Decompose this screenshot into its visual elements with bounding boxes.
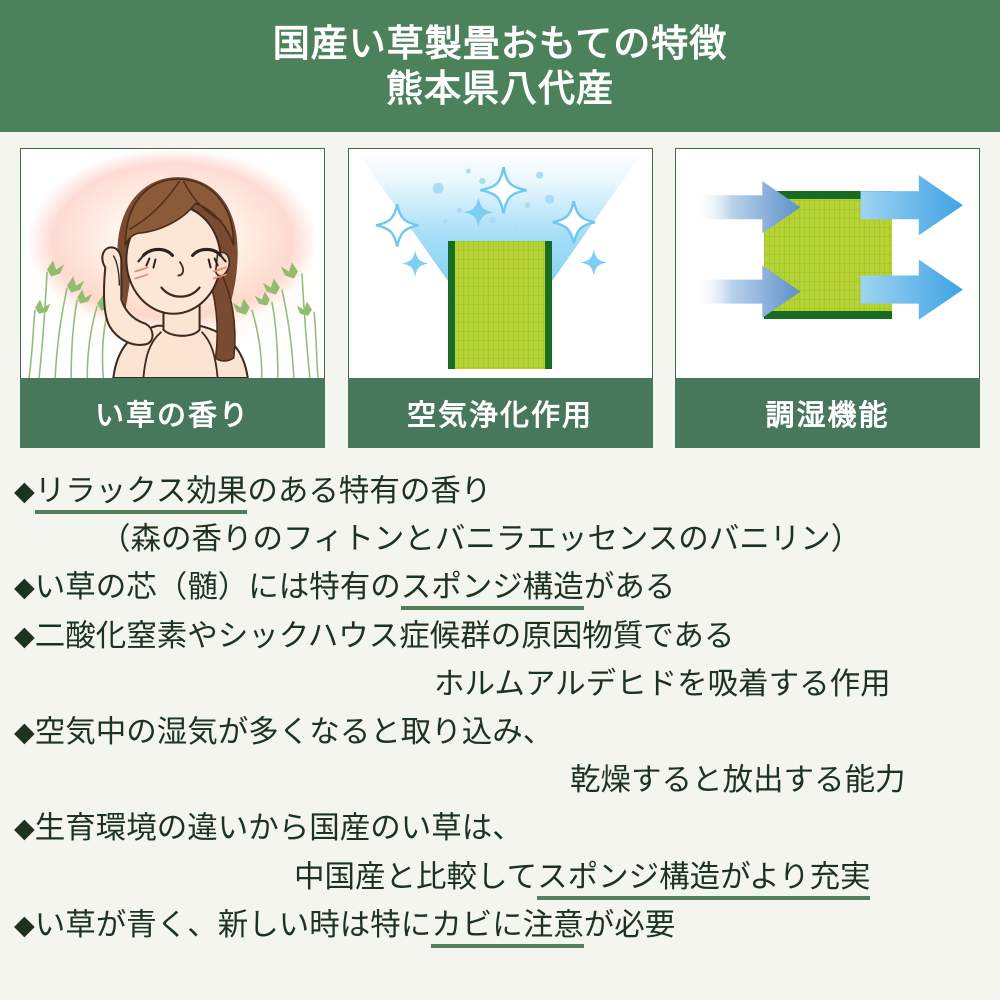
feature-text: のある特有の香り bbox=[247, 474, 491, 509]
feature-line: ◆い草が青く、新しい時は特にカビに注意が必要 bbox=[14, 902, 986, 950]
feature-description-list: ◆リラックス効果のある特有の香り（森の香りのフィトンとバニラエッセンスのバニリン… bbox=[0, 468, 1000, 950]
feature-text: い草の芯（髄）には特有の bbox=[35, 570, 401, 605]
highlighted-keyword: カビに注意 bbox=[431, 908, 584, 948]
feature-text: （森の香りのフィトンとバニラエッセンスのバニリン） bbox=[100, 522, 861, 557]
diamond-bullet-icon: ◆ bbox=[14, 910, 35, 941]
diamond-bullet-icon: ◆ bbox=[14, 813, 35, 844]
feature-line: ◆生育環境の違いから国産のい草は、 bbox=[14, 805, 986, 853]
page-title-line-1: 国産い草製畳おもての特徴 bbox=[273, 21, 728, 66]
feature-line: ◆空気中の湿気が多くなると取り込み、 bbox=[14, 709, 986, 757]
feature-text: 二酸化窒素やシックハウス症候群の原因物質である bbox=[35, 619, 735, 654]
tatami-humidity-control-illustration bbox=[675, 148, 980, 378]
highlighted-keyword: スポンジ構造 bbox=[401, 570, 584, 610]
feature-line: 中国産と比較してスポンジ構造がより充実 bbox=[14, 854, 986, 902]
feature-line: （森の香りのフィトンとバニラエッセンスのバニリン） bbox=[14, 516, 986, 564]
feature-text: い草が青く、新しい時は特に bbox=[35, 908, 432, 943]
page-title-line-2: 熊本県八代産 bbox=[386, 66, 614, 111]
feature-text: 空気中の湿気が多くなると取り込み、 bbox=[35, 715, 554, 750]
tatami-air-purification-illustration bbox=[348, 148, 653, 378]
feature-card-row: い草の香り bbox=[0, 148, 1000, 450]
feature-line: ◆二酸化窒素やシックハウス症候群の原因物質である bbox=[14, 613, 986, 661]
tatami-mat-block bbox=[448, 241, 552, 369]
feature-card-fragrance[interactable]: い草の香り bbox=[20, 148, 325, 448]
diamond-bullet-icon: ◆ bbox=[14, 476, 35, 507]
feature-line: ホルムアルデヒドを吸着する作用 bbox=[14, 661, 986, 709]
diamond-bullet-icon: ◆ bbox=[14, 717, 35, 748]
feature-card-air-purification[interactable]: 空気浄化作用 bbox=[348, 148, 653, 448]
feature-line: ◆い草の芯（髄）には特有のスポンジ構造がある bbox=[14, 564, 986, 612]
feature-card-caption-air-purification: 空気浄化作用 bbox=[348, 378, 653, 448]
feature-text: 乾燥すると放出する能力 bbox=[570, 763, 906, 798]
woman-figure-icon bbox=[21, 149, 324, 378]
feature-card-caption-humidity-control: 調湿機能 bbox=[675, 378, 980, 448]
feature-text: 生育環境の違いから国産のい草は、 bbox=[35, 811, 523, 846]
highlighted-keyword: リラックス効果 bbox=[35, 474, 248, 514]
feature-line: 乾燥すると放出する能力 bbox=[14, 757, 986, 805]
highlighted-keyword: スポンジ構造がより充実 bbox=[537, 860, 870, 900]
feature-line: ◆リラックス効果のある特有の香り bbox=[14, 468, 986, 516]
feature-text: ホルムアルデヒドを吸着する作用 bbox=[434, 667, 891, 702]
diamond-bullet-icon: ◆ bbox=[14, 621, 35, 652]
diamond-bullet-icon: ◆ bbox=[14, 572, 35, 603]
page-header: 国産い草製畳おもての特徴 熊本県八代産 bbox=[0, 0, 1000, 132]
woman-smelling-igusa-illustration bbox=[20, 148, 325, 378]
feature-text: 中国産と比較して bbox=[294, 860, 537, 895]
moisture-flow-arrows-icon bbox=[676, 149, 979, 378]
feature-text: が必要 bbox=[584, 908, 676, 943]
feature-card-caption-fragrance: い草の香り bbox=[20, 378, 325, 448]
feature-text: がある bbox=[584, 570, 676, 605]
feature-card-humidity-control[interactable]: 調湿機能 bbox=[675, 148, 980, 448]
